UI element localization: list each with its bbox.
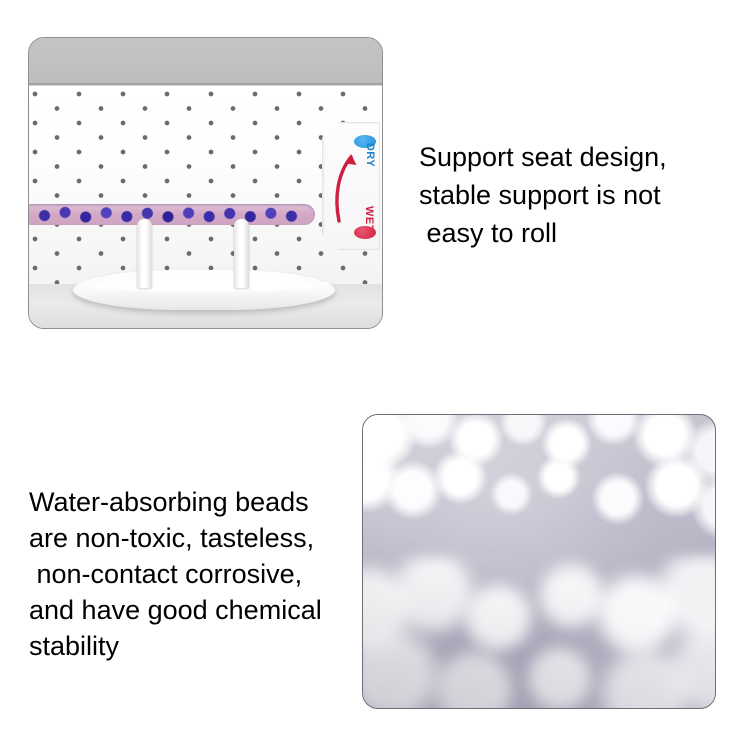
studio-backdrop [29,38,382,85]
wet-indicator-dot [354,226,376,239]
dry-label: DRY [364,143,376,167]
support-seat-caption: Support seat design, stable support is n… [419,138,739,252]
humidity-indicator-sticker: DRY WET [322,122,380,250]
curved-up-arrow-icon [332,145,358,227]
support-stand-base [73,270,335,310]
humidity-indicator-bead-strip [28,204,315,225]
dehumidifier-product-photo: DRY WET [28,37,383,329]
silica-gel-beads-photo [362,414,716,709]
support-post-right [234,219,249,288]
photo-vignette [363,415,715,708]
water-absorbing-beads-caption: Water-absorbing beads are non-toxic, tas… [29,484,359,664]
support-post-left [137,219,152,288]
